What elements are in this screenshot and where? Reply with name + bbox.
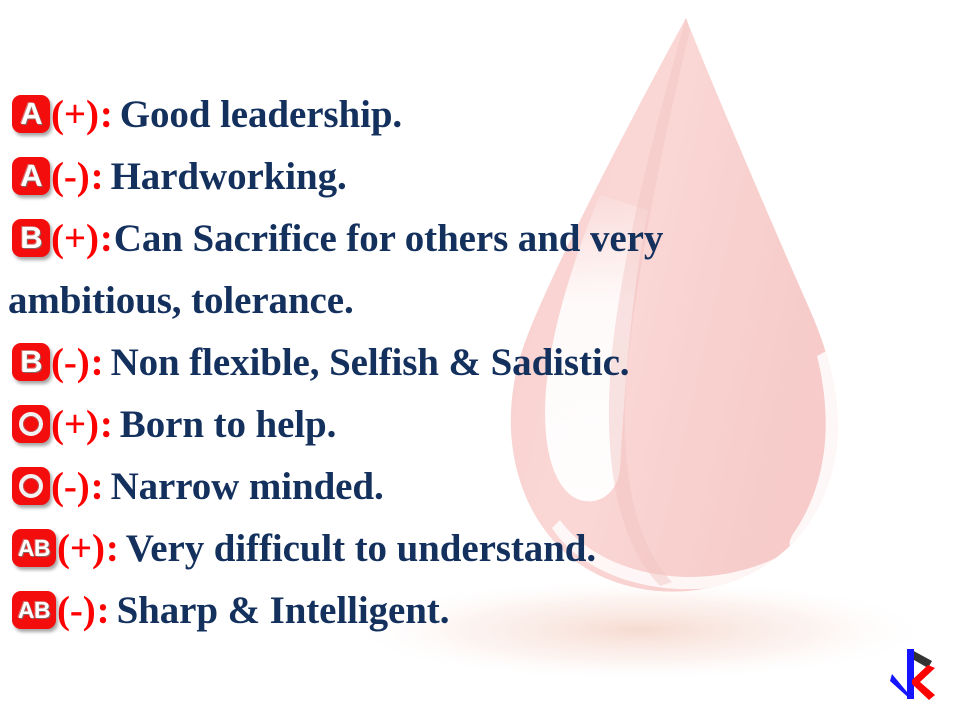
trait-text: Born to help.	[114, 403, 336, 446]
trait-text: Hardworking.	[105, 155, 347, 198]
rh-sign: (+)	[57, 527, 105, 570]
jb-monogram-logo	[874, 642, 946, 706]
rh-sign: (-)	[57, 589, 96, 632]
separator-colon: :	[96, 589, 111, 632]
list-item: B(+):Can Sacrifice for others and very	[0, 208, 960, 270]
list-item: B(-):Non flexible, Selfish & Sadistic.	[0, 332, 960, 394]
blood-type-a-icon: A	[12, 157, 50, 195]
separator-colon: :	[105, 527, 120, 570]
trait-text: Non flexible, Selfish & Sadistic.	[105, 341, 630, 384]
list-item: A(-):Hardworking.	[0, 146, 960, 208]
logo-blue-stroke	[907, 649, 914, 699]
list-item: AB(-):Sharp & Intelligent.	[0, 580, 960, 642]
rh-sign: (+)	[51, 93, 99, 136]
rh-sign: (+)	[51, 217, 99, 260]
blood-type-ab-icon: AB	[12, 591, 56, 629]
trait-text: Narrow minded.	[105, 465, 384, 508]
list-item: O(-):Narrow minded.	[0, 456, 960, 518]
slide-canvas: A(+):Good leadership. A(-):Hardworking. …	[0, 0, 960, 720]
logo-red-stroke	[912, 665, 935, 700]
trait-text: Sharp & Intelligent.	[111, 589, 450, 632]
blood-type-o-icon: O	[12, 467, 50, 505]
trait-text-continuation: ambitious, tolerance.	[0, 270, 960, 332]
blood-type-a-icon: A	[12, 95, 50, 133]
list-item: A(+):Good leadership.	[0, 84, 960, 146]
continuation-text: ambitious, tolerance.	[8, 279, 354, 322]
trait-text: Very difficult to understand.	[120, 527, 596, 570]
list-item: AB(+):Very difficult to understand.	[0, 518, 960, 580]
blood-type-ab-icon: AB	[12, 529, 56, 567]
trait-text: Can Sacrifice for others and very	[114, 217, 663, 260]
rh-sign: (-)	[51, 341, 90, 384]
rh-sign: (-)	[51, 155, 90, 198]
separator-colon: :	[90, 155, 105, 198]
blood-type-b-icon: B	[12, 343, 50, 381]
rh-sign: (+)	[51, 403, 99, 446]
trait-list: A(+):Good leadership. A(-):Hardworking. …	[0, 0, 960, 720]
blood-type-b-icon: B	[12, 219, 50, 257]
separator-colon: :	[99, 93, 114, 136]
list-item: O(+):Born to help.	[0, 394, 960, 456]
separator-colon: :	[90, 341, 105, 384]
separator-colon: :	[99, 217, 114, 260]
separator-colon: :	[90, 465, 105, 508]
rh-sign: (-)	[51, 465, 90, 508]
trait-text: Good leadership.	[114, 93, 402, 136]
separator-colon: :	[99, 403, 114, 446]
blood-type-o-icon: O	[12, 405, 50, 443]
